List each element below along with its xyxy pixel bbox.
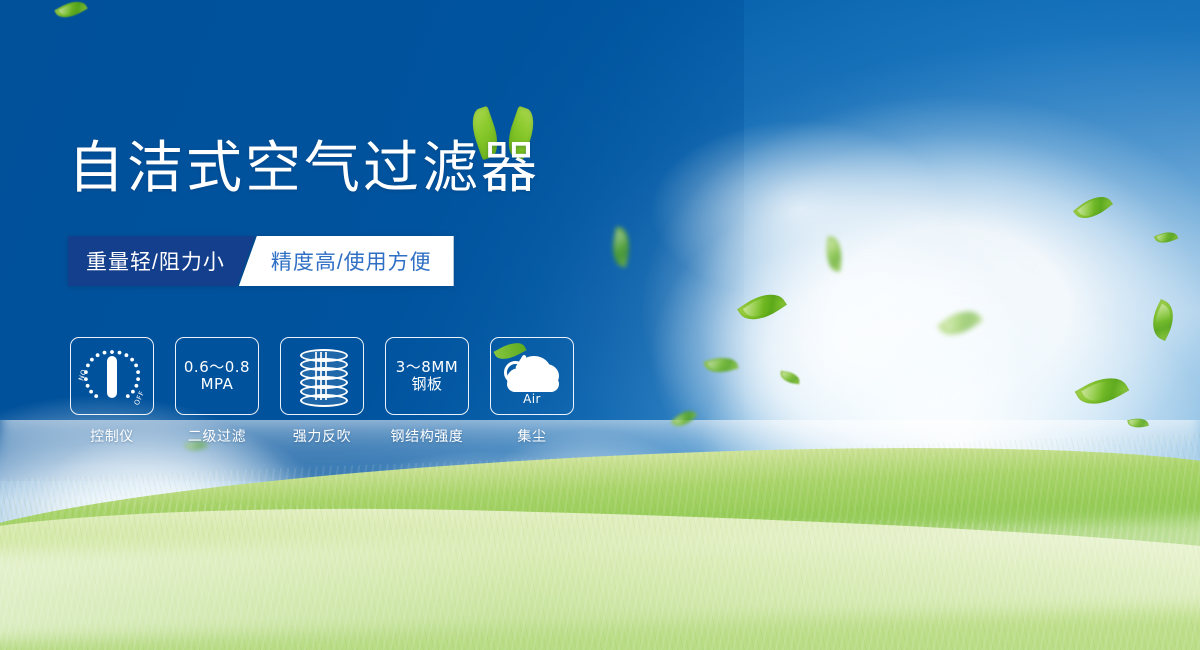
air-cloud-icon: Air bbox=[501, 348, 563, 404]
subtitle-right-segment: 精度高/使用方便 bbox=[239, 236, 454, 286]
feature-list: NO OFF 控制仪 0.6〜0.8 MPA 二级过滤 bbox=[70, 337, 574, 446]
feature-item-dustcollect[interactable]: Air 集尘 bbox=[490, 337, 574, 446]
pressure-unit: MPA bbox=[184, 376, 250, 393]
feature-icon-box: 3〜8MM 钢板 bbox=[385, 337, 469, 415]
steel-text-icon: 3〜8MM 钢板 bbox=[396, 359, 458, 394]
feature-item-steel[interactable]: 3〜8MM 钢板 钢结构强度 bbox=[385, 337, 469, 446]
feature-item-backblow[interactable]: 强力反吹 bbox=[280, 337, 364, 446]
feature-item-controller[interactable]: NO OFF 控制仪 bbox=[70, 337, 154, 446]
banner-content: 自洁式空气过滤器 重量轻/阻力小 精度高/使用方便 bbox=[0, 0, 1200, 650]
feature-label: 控制仪 bbox=[90, 426, 134, 446]
feature-icon-box: NO OFF bbox=[70, 337, 154, 415]
subtitle-left-segment: 重量轻/阻力小 bbox=[68, 236, 255, 286]
feature-icon-box: 0.6〜0.8 MPA bbox=[175, 337, 259, 415]
feature-item-filtration[interactable]: 0.6〜0.8 MPA 二级过滤 bbox=[175, 337, 259, 446]
feature-label: 强力反吹 bbox=[293, 426, 351, 446]
steel-material: 钢板 bbox=[396, 376, 458, 393]
subtitle-bar: 重量轻/阻力小 精度高/使用方便 bbox=[68, 236, 454, 286]
air-label: Air bbox=[501, 392, 563, 406]
air-swirl-icon bbox=[504, 361, 527, 384]
gauge-needle-icon bbox=[107, 356, 117, 398]
page-title: 自洁式空气过滤器 bbox=[68, 141, 540, 197]
feature-icon-box bbox=[280, 337, 364, 415]
feature-label: 钢结构强度 bbox=[391, 426, 464, 446]
gauge-icon: NO OFF bbox=[78, 347, 146, 405]
pressure-text-icon: 0.6〜0.8 MPA bbox=[184, 359, 250, 394]
feature-label: 集尘 bbox=[517, 426, 546, 446]
coil-filter-icon bbox=[296, 348, 348, 404]
pressure-range: 0.6〜0.8 bbox=[184, 359, 250, 376]
steel-thickness: 3〜8MM bbox=[396, 359, 458, 376]
coil-ring bbox=[300, 394, 348, 407]
feature-icon-box: Air bbox=[490, 337, 574, 415]
product-banner: 自洁式空气过滤器 重量轻/阻力小 精度高/使用方便 bbox=[0, 0, 1200, 650]
feature-label: 二级过滤 bbox=[188, 426, 246, 446]
